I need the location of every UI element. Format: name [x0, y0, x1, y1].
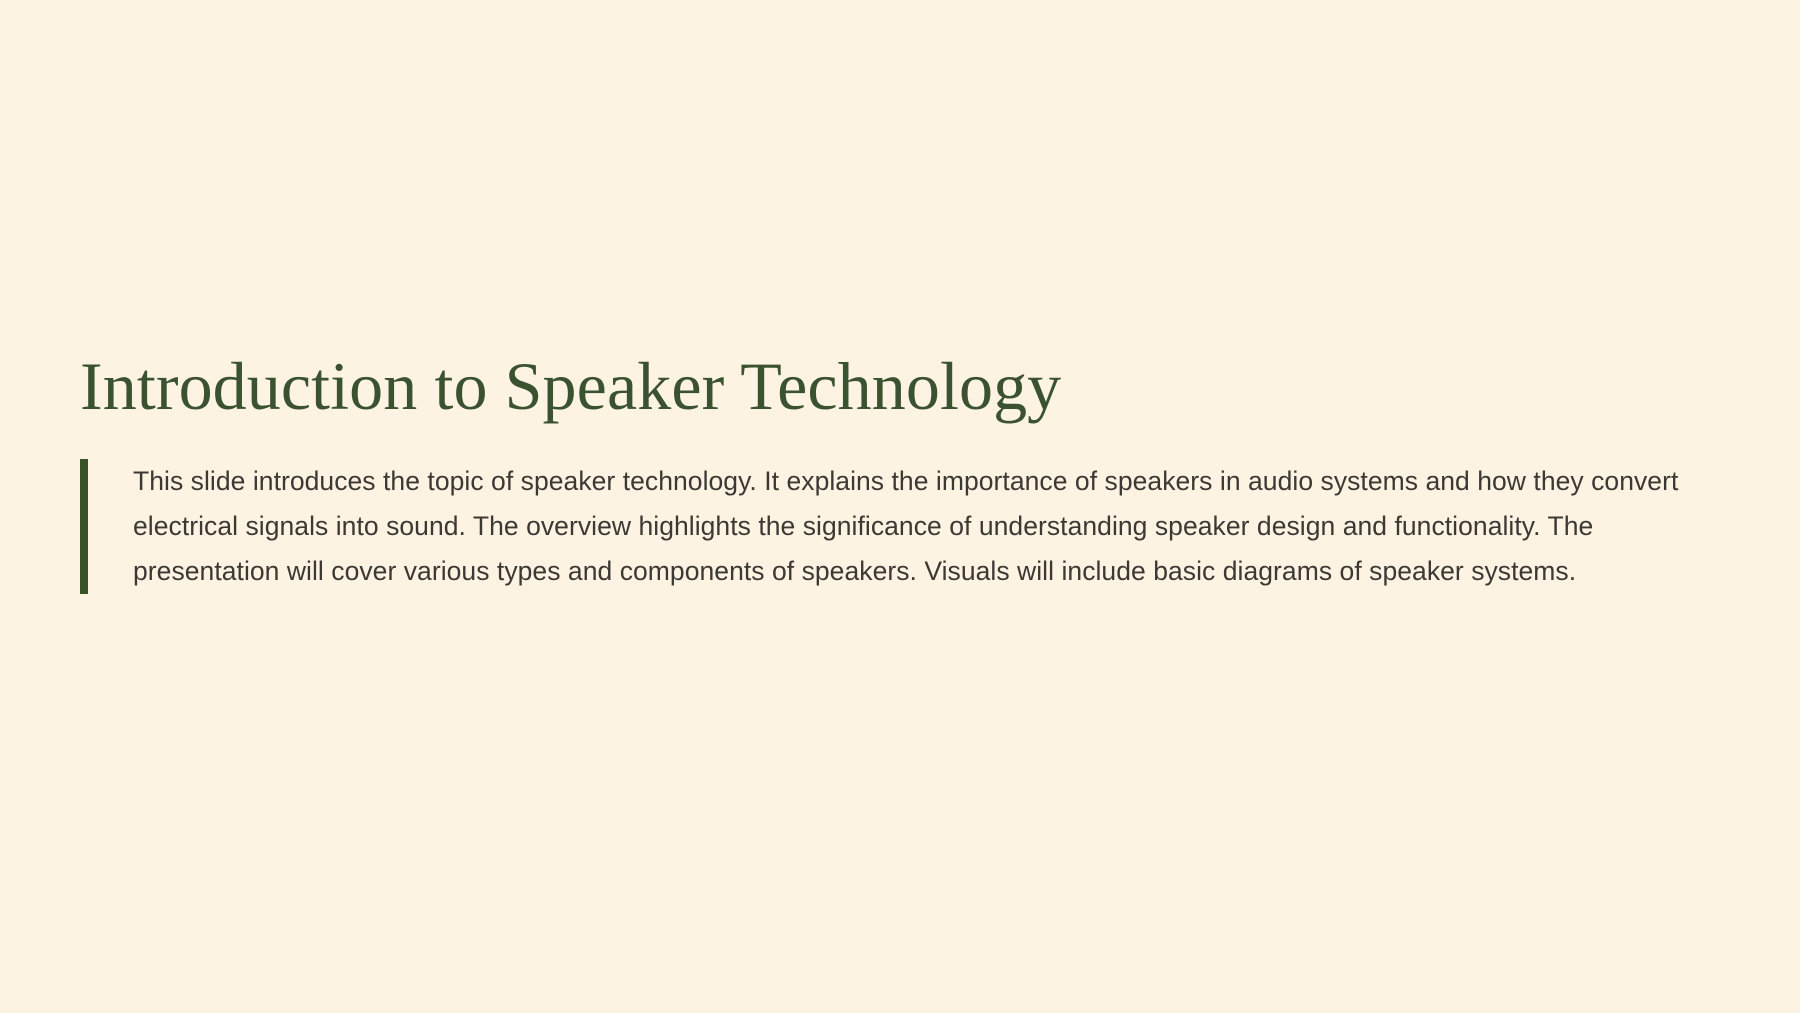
- body-block: This slide introduces the topic of speak…: [80, 459, 1730, 594]
- slide-body-text: This slide introduces the topic of speak…: [88, 459, 1730, 594]
- presentation-slide: Introduction to Speaker Technology This …: [0, 0, 1800, 1013]
- accent-bar: [80, 459, 88, 594]
- slide-content: Introduction to Speaker Technology This …: [80, 350, 1730, 594]
- page-title: Introduction to Speaker Technology: [80, 350, 1730, 422]
